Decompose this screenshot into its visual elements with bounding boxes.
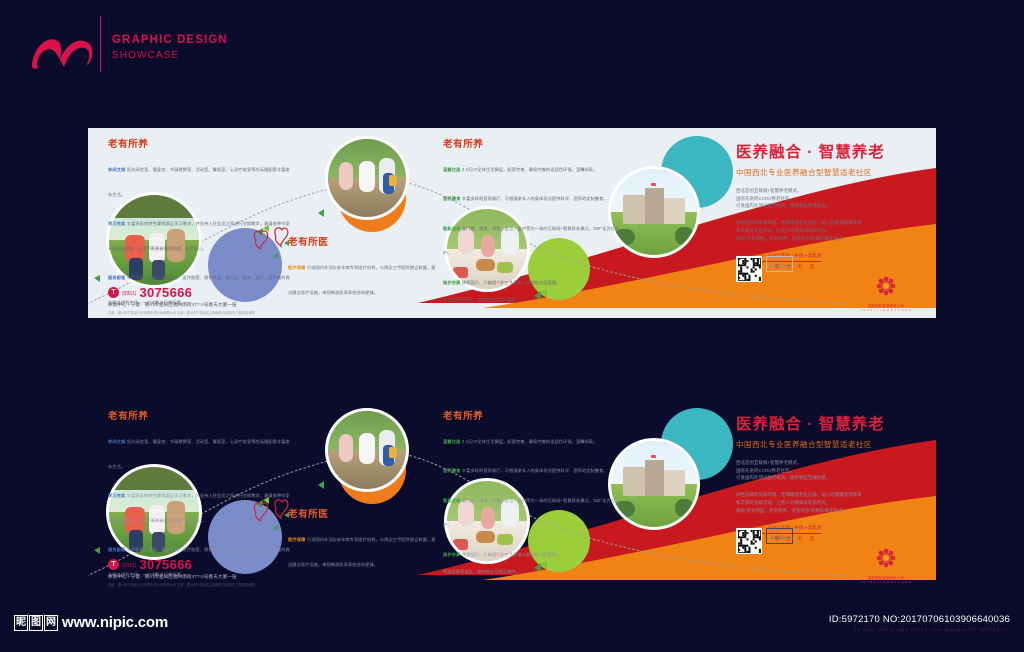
photo-subject: [389, 447, 397, 458]
photo-subject: [645, 460, 664, 496]
section-quality-living: 老有所养温馨住居 2.2万m²全体生活圈层，配套完善，最接完善的适居住环境，温馨…: [443, 136, 623, 303]
section-title: 老有所养: [443, 408, 623, 422]
panel-paragraph-line: 国际先进的CCRC养老社区，: [736, 195, 932, 203]
paragraph-text: 阳光阅览室、健身房、书画棋牌室、活动室、舞蹈室，心灵疗愈室等的无缝配套丰富老年生…: [108, 167, 290, 197]
panel-paragraph-line: 体验"老有所医、老有所养、老有所乐"的精彩晚年生活！: [736, 235, 932, 243]
phone-number: 3075666: [139, 558, 192, 571]
qr-block: 扫一扫关注最新资讯: [736, 256, 793, 282]
paragraph-label: 休闲文娱: [108, 167, 127, 172]
leaf-icon: [94, 547, 100, 554]
leaf-icon: [318, 481, 324, 489]
site-chinese-name: 昵 图 网: [14, 615, 58, 631]
panel-paragraph-line: 绿色低碳的优质环境、无障碍适老化设施、贴心的健康管理体系: [736, 491, 932, 499]
panel-paragraph-line: 引进国内外顶尖医疗机构，便养和医无缝衔接。: [736, 474, 932, 482]
panel-paragraph-line: 和丰富的文娱活动，让老人尽情阅读欢乐时光。: [736, 227, 932, 235]
contact-address: 体验中心 / 宁夏 · 银川市金凤区福州南街477-2号春天大厦一层: [108, 574, 338, 580]
asset-id-line: ID:5972170 NO:20170706103906640036: [829, 614, 1010, 625]
photo-subject: [675, 499, 694, 516]
section-paragraph: 休闲文娱 阳光阅览室、健身房、书画棋牌室、活动室、舞蹈室，心灵疗愈室等的无缝配套…: [108, 427, 293, 477]
company-emblem: 国际国际智慧养老公司I N T E L L I G E N T C A R E: [854, 548, 918, 584]
lotus-emblem-icon: [876, 548, 896, 568]
paragraph-label: 医疗保障: [288, 537, 307, 542]
paragraph-text: 按照国乃、介能相介护三大养老人群制定分区管理。: [462, 280, 561, 285]
photo-subject: [359, 433, 375, 464]
section-paragraph: 温馨住居 2.2万m²全体生活圈层，配套完善，最接完善的适居住环境，温馨如家。: [443, 427, 623, 452]
contact-block: T(0951)3075666体验中心 / 宁夏 · 银川市金凤区福州南街477-…: [108, 558, 338, 587]
emblem-name: 国际国际智慧养老公司: [854, 575, 918, 580]
section-paragraph: 营养膳食 丰富多样的营养餐厅，可根据老年人的身体状况提供科学、营养的定制膳食。: [443, 184, 623, 209]
company-emblem: 国际国际智慧养老公司I N T E L L I G E N T C A R E: [854, 276, 918, 312]
panel-paragraph-line: 西北首创互联网+智慧养老模式。: [736, 459, 932, 467]
photo-subject: [664, 198, 685, 224]
paragraph-label: 营养膳食: [443, 468, 462, 473]
paragraph-text: 丰富多彩的特色课程满足学习需求，并支持入住会员之间进行交换教学，邀请各种专家开展…: [108, 221, 290, 251]
panel-subtitle: 中国西北专业医养融合型智慧适老社区: [736, 439, 932, 450]
brand-subtitle: SHOWCASE: [112, 50, 228, 61]
paragraph-text: 2.2万m²全体生活圈层，配套完善，最接完善的适居住环境，温馨如家。: [462, 167, 598, 172]
panel-paragraph-line: 引进国内外顶尖医疗机构，便养和医无缝衔接。: [736, 202, 932, 210]
phone-circle-icon: T: [108, 287, 119, 298]
photo-subject: [645, 188, 664, 224]
seniors-walking-with-doctor-photo: [325, 408, 409, 492]
paragraph-label: 服务配套: [108, 547, 127, 552]
section-footnote: 特设民族养老区，相对独立互相互融合。: [443, 569, 623, 575]
section-paragraph: 休闲文娱 阳光阅览室、健身房、书画棋牌室、活动室、舞蹈室，心灵疗愈室等的无缝配套…: [108, 155, 293, 205]
section-paragraph: 智能适老 集门禁、楼道、消费、定位、紧护等为一体的互联网+智慧养老模式，360°…: [443, 214, 623, 264]
asset-id-tagline: TO FIND THEIR OWN STYLE, THE MINIMALIST …: [829, 627, 1010, 632]
panel-paragraph-line: 绿色低碳的优质环境、无障碍适老化设施、贴心的健康管理体系: [736, 219, 932, 227]
site-branding: 昵 图 网 www.nipic.com: [14, 614, 168, 631]
paragraph-label: 温馨住居: [443, 167, 462, 172]
paragraph-label: 智能适老: [443, 226, 462, 231]
section-paragraph: 营养膳食 丰富多样的营养餐厅，可根据老年人的身体状况提供科学、营养的定制膳食。: [443, 456, 623, 481]
banner-preview-light: 老有所养休闲文娱 阳光阅览室、健身房、书画棋牌室、活动室、舞蹈室，心灵疗愈室等的…: [88, 128, 936, 318]
seniors-walking-with-doctor-photo: [325, 136, 409, 220]
section-footnote: 特设民族养老区，相对独立互相互融合。: [443, 297, 623, 303]
panel-paragraph: 西北首创互联网+智慧养老模式。国际先进的CCRC养老社区，引进国内外顶尖医疗机构…: [736, 187, 932, 210]
photo-subject: [359, 161, 375, 192]
header-divider: [100, 16, 101, 72]
paragraph-label: 陪护安康: [443, 552, 462, 557]
qr-code-icon[interactable]: [736, 528, 762, 554]
photo-subject: [339, 434, 353, 462]
phone-number: 3075666: [139, 286, 192, 299]
section-paragraph: 陪护安康 按照国乃、介能相介护三大养老人群制定分区管理。: [443, 268, 623, 293]
emblem-subtitle: I N T E L L I G E N T C A R E: [854, 309, 918, 312]
panel-paragraph: 绿色低碳的优质环境、无障碍适老化设施、贴心的健康管理体系和丰富的文娱活动，让老人…: [736, 491, 932, 514]
paragraph-text: 2.2万m²全体生活圈层，配套完善，最接完善的适居住环境，温馨如家。: [462, 439, 598, 444]
contact-note: 注册：银川市宁信息行业有限责任公司有限公司 注册：银川市宁信息区注册销售与服务不…: [108, 582, 338, 587]
section-title: 老有所医: [288, 506, 436, 520]
asset-id-block: ID:5972170 NO:20170706103906640036 TO FI…: [829, 614, 1010, 632]
panel-subtitle: 中国西北专业医养融合型智慧适老社区: [736, 167, 932, 178]
emblem-name: 国际国际智慧养老公司: [854, 303, 918, 308]
contact-block: T(0951)3075666体验中心 / 宁夏 · 银川市金凤区福州南街477-…: [108, 286, 338, 315]
paragraph-text: 丰富多样的营养餐厅，可根据老年人的身体状况提供科学、营养的定制膳食。: [462, 468, 608, 473]
section-paragraph: 学习充实 丰富多彩的特色课程满足学习需求，并支持入住会员之间进行交换教学，邀请各…: [108, 481, 293, 531]
phone-row[interactable]: T(0951)3075666: [108, 286, 338, 299]
section-title: 老有所养: [443, 136, 623, 150]
site-url[interactable]: www.nipic.com: [62, 614, 168, 631]
panel-paragraph-line: 和丰富的文娱活动，让老人尽情阅读欢乐时光。: [736, 499, 932, 507]
brush-stroke-m-logo-icon: [28, 26, 100, 72]
paragraph-text: 集门禁、楼道、消费、定位、紧护等为一体的互联网+智慧养老模式，360°全方位守护…: [443, 498, 619, 528]
paragraph-text: 集门禁、楼道、消费、定位、紧护等为一体的互联网+智慧养老模式，360°全方位守护…: [443, 226, 619, 256]
paragraph-label: 温馨住居: [443, 439, 462, 444]
leaf-icon: [318, 209, 324, 217]
phone-area-code: (0951): [122, 291, 136, 297]
qr-caption: 扫一扫关注最新资讯: [766, 528, 793, 544]
brand-text: GRAPHIC DESIGN SHOWCASE: [112, 34, 228, 61]
contact-address: 体验中心 / 宁夏 · 银川市金凤区福州南街477-2号春天大厦一层: [108, 302, 338, 308]
qr-caption-line: 关注最新资讯: [770, 536, 789, 541]
phone-row[interactable]: T(0951)3075666: [108, 558, 338, 571]
photo-subject: [664, 470, 685, 496]
section-title: 老有所养: [108, 408, 293, 422]
headline-panel: 医养融合 · 智慧养老中国西北专业医养融合型智慧适老社区西北首创互联网+智慧养老…: [736, 140, 932, 270]
photo-subject: [339, 162, 353, 190]
photo-subject: [651, 183, 656, 186]
qr-block: 扫一扫关注最新资讯: [736, 528, 793, 554]
qr-caption: 扫一扫关注最新资讯: [766, 256, 793, 272]
paragraph-label: 陪护安康: [443, 280, 462, 285]
panel-paragraph-line: 体验"老有所医、老有所养、老有所乐"的精彩晚年生活！: [736, 507, 932, 515]
section-title: 老有所医: [288, 234, 436, 248]
contact-note: 注册：银川市宁信息行业有限责任公司有限公司 注册：银川市宁信息区注册销售与服务不…: [108, 310, 338, 315]
paragraph-label: 学习充实: [108, 221, 127, 226]
paragraph-label: 休闲文娱: [108, 439, 127, 444]
page-header: GRAPHIC DESIGN SHOWCASE: [0, 0, 1024, 110]
qr-code-icon[interactable]: [736, 256, 762, 282]
phone-area-code: (0951): [122, 563, 136, 569]
photo-subject: [623, 195, 645, 224]
photo-subject: [675, 227, 694, 244]
leaf-icon: [94, 275, 100, 282]
section-paragraph: 温馨住居 2.2万m²全体生活圈层，配套完善，最接完善的适居住环境，温馨如家。: [443, 155, 623, 180]
photo-subject: [651, 455, 656, 458]
brand-title: GRAPHIC DESIGN: [112, 34, 228, 46]
paragraph-text: 丰富多彩的特色课程满足学习需求，并支持入住会员之间进行交换教学，邀请各种专家开展…: [108, 493, 290, 523]
panel-title: 医养融合 · 智慧养老: [736, 412, 932, 434]
paragraph-text: 按照国乃、介能相介护三大养老人群制定分区管理。: [462, 552, 561, 557]
phone-circle-icon: T: [108, 559, 119, 570]
section-paragraph: 智能适老 集门禁、楼道、消费、定位、紧护等为一体的互联网+智慧养老模式，360°…: [443, 486, 623, 536]
emblem-subtitle: I N T E L L I G E N T C A R E: [854, 581, 918, 584]
paragraph-label: 医疗保障: [288, 265, 307, 270]
banner-preview-dark: 老有所养休闲文娱 阳光阅览室、健身房、书画棋牌室、活动室、舞蹈室，心灵疗愈室等的…: [88, 400, 936, 590]
site-char-2: 图: [29, 615, 43, 631]
paragraph-text: 阳光阅览室、健身房、书画棋牌室、活动室、舞蹈室，心灵疗愈室等的无缝配套丰富老年生…: [108, 439, 290, 469]
headline-panel: 医养融合 · 智慧养老中国西北专业医养融合型智慧适老社区西北首创互联网+智慧养老…: [736, 412, 932, 542]
site-char-1: 昵: [14, 615, 28, 631]
section-paragraph: 学习充实 丰富多彩的特色课程满足学习需求，并支持入住会员之间进行交换教学，邀请各…: [108, 209, 293, 259]
qr-caption-line: 关注最新资讯: [770, 264, 789, 269]
paragraph-text: 丰富多样的营养餐厅，可根据老年人的身体状况提供科学、营养的定制膳食。: [462, 196, 608, 201]
section-paragraph: 陪护安康 按照国乃、介能相介护三大养老人群制定分区管理。: [443, 540, 623, 565]
panel-title: 医养融合 · 智慧养老: [736, 140, 932, 162]
panel-paragraph: 西北首创互联网+智慧养老模式。国际先进的CCRC养老社区，引进国内外顶尖医疗机构…: [736, 459, 932, 482]
lotus-emblem-icon: [876, 276, 896, 296]
panel-paragraph: 绿色低碳的优质环境、无障碍适老化设施、贴心的健康管理体系和丰富的文娱活动，让老人…: [736, 219, 932, 242]
paragraph-label: 学习充实: [108, 493, 127, 498]
paragraph-label: 智能适老: [443, 498, 462, 503]
page-footer: 昵 图 网 www.nipic.com ID:5972170 NO:201707…: [0, 600, 1024, 652]
panel-paragraph-line: 西北首创互联网+智慧养老模式。: [736, 187, 932, 195]
photo-subject: [623, 467, 645, 496]
section-title: 老有所养: [108, 136, 293, 150]
site-char-3: 网: [44, 615, 58, 631]
photo-subject: [389, 175, 397, 186]
paragraph-label: 营养膳食: [443, 196, 462, 201]
section-quality-living: 老有所养温馨住居 2.2万m²全体生活圈层，配套完善，最接完善的适居住环境，温馨…: [443, 408, 623, 575]
paragraph-label: 服务配套: [108, 275, 127, 280]
panel-paragraph-line: 国际先进的CCRC养老社区，: [736, 467, 932, 475]
